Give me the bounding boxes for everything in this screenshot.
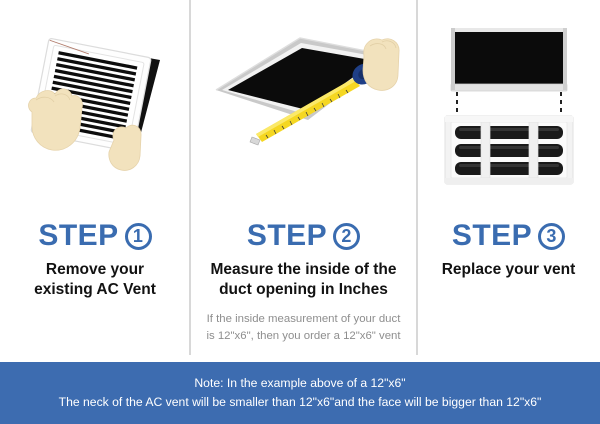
step-caption-line-1: Replace your vent xyxy=(425,260,592,280)
step-number-badge: 1 xyxy=(125,223,152,250)
step-caption-line-2: existing AC Vent xyxy=(8,280,182,300)
step-column-3: STEP3 Replace your vent xyxy=(417,0,600,362)
step-label: STEP xyxy=(247,219,327,252)
installation-steps-infographic: STEP1 Remove your existing AC Vent xyxy=(0,0,600,424)
step-caption-1: Remove your existing AC Vent xyxy=(0,260,190,300)
step-subnote-line-1: If the inside measurement of your duct xyxy=(200,311,407,328)
step-column-1: STEP1 Remove your existing AC Vent xyxy=(0,0,190,362)
step-heading-3: STEP3 xyxy=(417,220,600,251)
step-label: STEP xyxy=(38,219,118,252)
vent-cover-install-illustration xyxy=(417,16,600,202)
note-banner-line-2: The neck of the AC vent will be smaller … xyxy=(59,393,542,412)
step-label: STEP xyxy=(452,219,532,252)
step-number: 3 xyxy=(541,227,562,245)
steps-row: STEP1 Remove your existing AC Vent xyxy=(0,0,600,362)
step-number-badge: 3 xyxy=(538,223,565,250)
step-caption-line-2: duct opening in Inches xyxy=(198,280,409,300)
note-banner-line-1: Note: In the example above of a 12"x6" xyxy=(194,374,405,393)
step-column-2: STEP2 Measure the inside of the duct ope… xyxy=(190,0,417,362)
step-number-badge: 2 xyxy=(333,223,360,250)
step-caption-2: Measure the inside of the duct opening i… xyxy=(190,260,417,300)
column-divider-1 xyxy=(189,0,191,355)
step-number: 2 xyxy=(336,227,357,245)
step-number: 1 xyxy=(128,227,149,245)
note-banner: Note: In the example above of a 12"x6" T… xyxy=(0,362,600,424)
step-caption-3: Replace your vent xyxy=(417,260,600,280)
step-heading-2: STEP2 xyxy=(190,220,417,251)
step-subnote-2: If the inside measurement of your duct i… xyxy=(190,311,417,344)
step-caption-line-1: Remove your xyxy=(8,260,182,280)
tape-measure-on-duct-opening-illustration xyxy=(190,16,417,202)
step-subnote-line-2: is 12"x6", then you order a 12"x6" vent xyxy=(200,328,407,345)
column-divider-2 xyxy=(416,0,418,355)
step-caption-line-1: Measure the inside of the xyxy=(198,260,409,280)
step-heading-1: STEP1 xyxy=(0,220,190,251)
hands-removing-ac-vent-illustration xyxy=(0,16,190,202)
